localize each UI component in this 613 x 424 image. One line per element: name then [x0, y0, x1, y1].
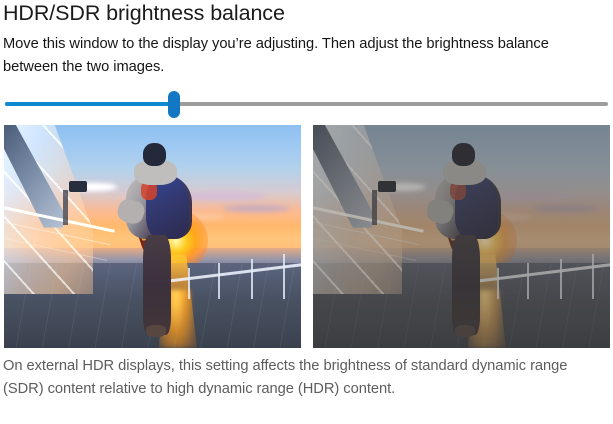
sdr-preview-image [313, 125, 610, 348]
person-figure [123, 143, 200, 335]
footer-caption: On external HDR displays, this setting a… [3, 355, 599, 401]
rail-post [218, 263, 220, 299]
hdr-sdr-brightness-balance-panel: HDR/SDR brightness balance Move this win… [0, 0, 613, 424]
foot [146, 325, 166, 337]
camera-mount-arm [372, 190, 376, 226]
legs [452, 235, 480, 335]
cloud-icon [533, 205, 598, 212]
rail-post [592, 254, 594, 299]
legs [143, 235, 171, 335]
preview-image-pair [4, 125, 610, 348]
camera-icon [69, 181, 87, 192]
slider-track-filled[interactable] [5, 102, 174, 106]
foot [455, 325, 475, 337]
brightness-balance-slider[interactable] [5, 94, 608, 120]
cloud-icon [224, 205, 289, 212]
page-description: Move this window to the display you’re a… [3, 33, 593, 79]
hdr-preview-image [4, 125, 301, 348]
slider-thumb[interactable] [168, 91, 180, 118]
camera-mount-arm [63, 190, 67, 226]
head [452, 143, 475, 166]
sunset-deck-scene [313, 125, 610, 348]
sunset-deck-scene [4, 125, 301, 348]
rail-post [560, 259, 562, 299]
rail-post [527, 263, 529, 299]
rail-post [283, 254, 285, 299]
page-title: HDR/SDR brightness balance [3, 1, 285, 26]
person-figure [432, 143, 509, 335]
camera-icon [378, 181, 396, 192]
head [143, 143, 166, 166]
rail-post [251, 259, 253, 299]
